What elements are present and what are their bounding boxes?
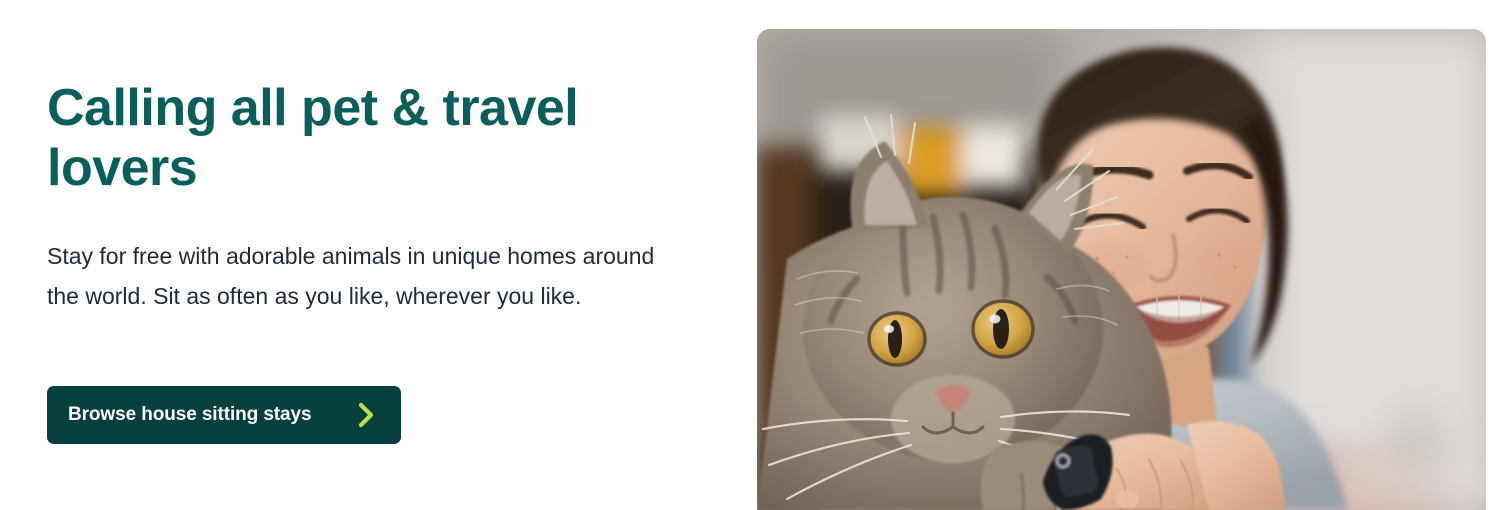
cta-label: Browse house sitting stays (68, 404, 311, 426)
hero-copy-column: Calling all pet & travel lovers Stay for… (47, 0, 687, 510)
chevron-right-icon (358, 402, 375, 428)
browse-house-sitting-stays-button[interactable]: Browse house sitting stays (47, 386, 401, 444)
page-title: Calling all pet & travel lovers (47, 78, 667, 198)
hero-image-frame (757, 29, 1486, 510)
hero-section: Calling all pet & travel lovers Stay for… (0, 0, 1497, 510)
hero-photo-woman-with-cat (757, 29, 1486, 510)
hero-subtitle: Stay for free with adorable animals in u… (47, 236, 655, 316)
